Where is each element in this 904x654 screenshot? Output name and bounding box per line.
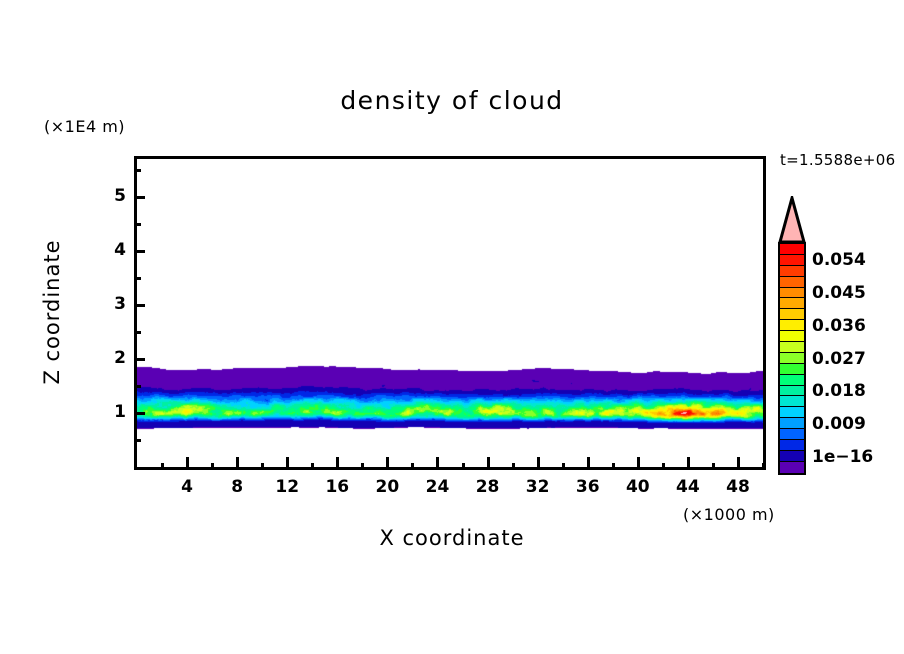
colorbar-tick-label: 1e−16 xyxy=(812,447,873,467)
x-tick-label: 16 xyxy=(317,477,357,497)
colorbar-tick-label: 0.027 xyxy=(812,349,866,369)
y-tick-minor xyxy=(134,385,141,388)
colorbar-band xyxy=(780,244,804,255)
colorbar-band xyxy=(780,429,804,440)
x-tick-mark xyxy=(286,457,289,470)
colorbar-band xyxy=(780,255,804,266)
colorbar-tick-label: 0.009 xyxy=(812,414,866,434)
x-tick-minor xyxy=(662,463,665,470)
y-tick-minor xyxy=(134,223,141,226)
x-tick-label: 12 xyxy=(267,477,307,497)
x-tick-mark xyxy=(687,457,690,470)
x-tick-minor xyxy=(211,463,214,470)
y-tick-minor xyxy=(134,277,141,280)
x-tick-minor xyxy=(361,463,364,470)
y-tick-label: 5 xyxy=(100,186,126,206)
colorbar-bands xyxy=(778,242,806,475)
y-axis-title: Z coordinate xyxy=(40,222,64,402)
x-tick-label: 36 xyxy=(568,477,608,497)
x-tick-mark xyxy=(236,457,239,470)
x-axis-title: X coordinate xyxy=(0,526,904,550)
colorbar-band xyxy=(780,298,804,309)
colorbar-extend-arrow-icon xyxy=(778,196,806,244)
x-tick-mark xyxy=(386,457,389,470)
y-tick-mark xyxy=(134,196,145,199)
y-tick-mark xyxy=(134,412,145,415)
y-axis-unit-label: (×1E4 m) xyxy=(44,117,125,136)
x-tick-minor xyxy=(462,463,465,470)
y-tick-minor xyxy=(134,331,141,334)
colorbar-band xyxy=(780,440,804,451)
colorbar-band xyxy=(780,364,804,375)
x-tick-minor xyxy=(161,463,164,470)
colorbar-band xyxy=(780,309,804,320)
x-tick-label: 48 xyxy=(718,477,758,497)
x-tick-mark xyxy=(487,457,490,470)
plot-area xyxy=(134,156,766,470)
colorbar-band xyxy=(780,462,804,473)
y-tick-mark xyxy=(134,250,145,253)
x-tick-mark xyxy=(737,457,740,470)
x-tick-label: 44 xyxy=(668,477,708,497)
y-tick-mark xyxy=(134,304,145,307)
x-tick-label: 24 xyxy=(417,477,457,497)
colorbar-band xyxy=(780,407,804,418)
time-annotation: t=1.5588e+06 xyxy=(780,151,895,169)
x-axis-unit-label: (×1000 m) xyxy=(683,505,775,524)
x-tick-mark xyxy=(186,457,189,470)
colorbar-band xyxy=(780,288,804,299)
colorbar-tick-label: 0.045 xyxy=(812,283,866,303)
colorbar: 0.0540.0450.0360.0270.0180.0091e−16 xyxy=(778,196,904,480)
colorbar-tick-label: 0.018 xyxy=(812,381,866,401)
contour-field xyxy=(137,159,763,467)
x-tick-label: 40 xyxy=(618,477,658,497)
y-tick-label: 3 xyxy=(100,294,126,314)
x-tick-minor xyxy=(512,463,515,470)
x-tick-minor xyxy=(311,463,314,470)
colorbar-band xyxy=(780,320,804,331)
page-title: density of cloud xyxy=(0,86,904,115)
colorbar-band xyxy=(780,386,804,397)
colorbar-band xyxy=(780,451,804,462)
x-tick-label: 4 xyxy=(167,477,207,497)
x-tick-minor xyxy=(612,463,615,470)
x-tick-minor xyxy=(562,463,565,470)
colorbar-band xyxy=(780,375,804,386)
colorbar-band xyxy=(780,396,804,407)
x-tick-mark xyxy=(336,457,339,470)
x-tick-label: 32 xyxy=(518,477,558,497)
colorbar-band xyxy=(780,342,804,353)
y-tick-minor xyxy=(134,169,141,172)
colorbar-band xyxy=(780,277,804,288)
colorbar-band xyxy=(780,418,804,429)
x-tick-minor xyxy=(762,463,765,470)
x-tick-label: 8 xyxy=(217,477,257,497)
colorbar-band xyxy=(780,266,804,277)
colorbar-tick-label: 0.054 xyxy=(812,250,866,270)
x-tick-minor xyxy=(411,463,414,470)
x-tick-mark xyxy=(436,457,439,470)
x-tick-label: 20 xyxy=(367,477,407,497)
x-tick-mark xyxy=(637,457,640,470)
y-tick-label: 4 xyxy=(100,240,126,260)
colorbar-band xyxy=(780,331,804,342)
colorbar-tick-label: 0.036 xyxy=(812,316,866,336)
y-tick-mark xyxy=(134,358,145,361)
colorbar-band xyxy=(780,353,804,364)
y-tick-label: 2 xyxy=(100,348,126,368)
y-tick-label: 1 xyxy=(100,402,126,422)
x-tick-minor xyxy=(712,463,715,470)
x-tick-label: 28 xyxy=(468,477,508,497)
y-tick-minor xyxy=(134,439,141,442)
x-tick-mark xyxy=(537,457,540,470)
x-tick-minor xyxy=(261,463,264,470)
x-tick-mark xyxy=(587,457,590,470)
